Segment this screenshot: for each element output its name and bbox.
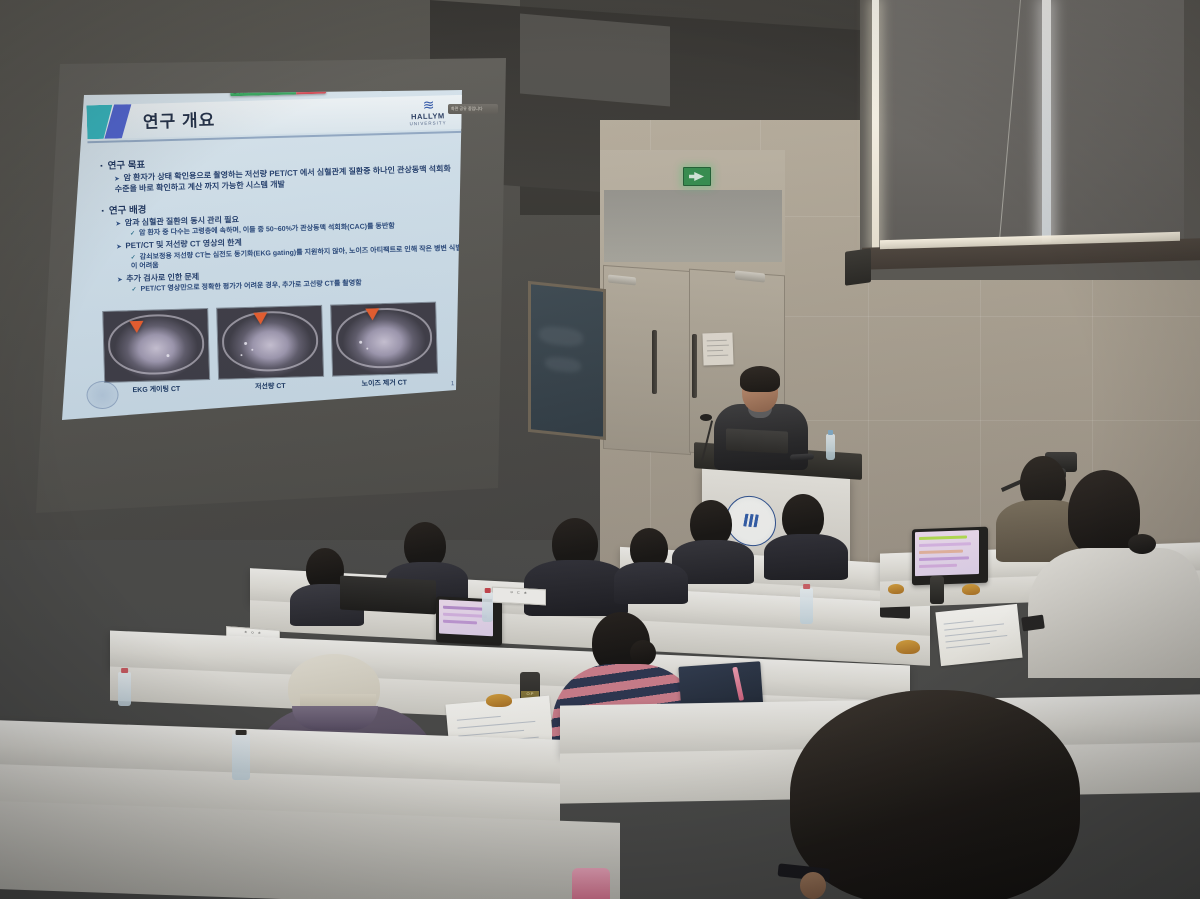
water-bottle[interactable] [572,868,610,899]
blind-light-gap [1042,0,1051,248]
slide-title: 연구 개요 [143,106,216,133]
name-placard: ㅇ ㄷ ㅎ [492,587,546,606]
audience-body [524,560,628,616]
water-bottle[interactable] [232,734,250,780]
screen-share-tooltip-text: 화면 공유 중입니다 [448,104,498,114]
audience-body [764,534,848,580]
ct-caption-lowdose: 저선량 CT [218,380,322,393]
chalkboard [528,281,606,440]
water-bottle[interactable] [482,592,493,622]
ct-image-item: EKG 게이팅 CT [102,308,208,396]
audience-tablet[interactable] [912,527,988,586]
hair-bow [1128,534,1156,554]
microphone-icon[interactable] [700,414,712,421]
audience-body [1028,548,1200,678]
foreground-person-ear [800,872,826,899]
ct-caption-ekg: EKG 게이팅 CT [104,383,208,396]
ct-image-row: EKG 게이팅 CT 저선량 CT [102,301,444,395]
slide-page-number: 1 [451,381,455,387]
ct-image-item: 저선량 CT [216,305,322,393]
door-handle-right[interactable] [692,334,697,398]
hallym-logo-mark: ≋ [406,97,448,112]
audience-laptop[interactable] [340,575,436,614]
hallym-logo: ≋ HALLYM UNIVERSITY [406,97,449,126]
door-transom-glass [604,190,782,262]
ct-scan-low-dose [216,305,324,380]
presentation-slide: 연구 개요 ≋ HALLYM UNIVERSITY 연구 목표 암 환자가 상태… [62,90,462,420]
ct-caption-denoised: 노이즈 제거 CT [332,377,436,390]
wall-notice [702,332,733,365]
ct-image-item: 노이즈 제거 CT [330,302,436,390]
presenter-hair [740,366,780,392]
door-handle-left[interactable] [652,330,657,394]
foreground-person-head [790,690,1080,899]
pen[interactable] [732,667,744,701]
water-bottle[interactable] [118,672,131,706]
ct-scan-denoised [330,302,438,377]
snack [486,694,512,707]
water-bottle[interactable] [800,588,813,624]
podium-water-bottle[interactable] [826,434,835,460]
snack [888,584,904,594]
lecture-hall-photo: 연구 개요 ≋ HALLYM UNIVERSITY 연구 목표 암 환자가 상태… [0,0,1200,899]
jacket-collar [292,706,378,730]
ceiling-speaker-icon [845,248,871,286]
presentation-pointer[interactable] [790,453,814,460]
snack [962,584,980,595]
exit-sign-icon [683,167,711,186]
slide-watermark-logo [86,381,119,410]
blind-light-gap-left [872,0,879,250]
name-placard-text: ㅇ ㄷ ㅎ [493,588,545,598]
snack [896,640,920,654]
audience-body [614,562,688,604]
ct-scan-ekg-gating [102,308,210,383]
presenter-laptop[interactable] [726,428,788,453]
door-left[interactable] [603,265,691,455]
slide-body: 연구 목표 암 환자가 상태 확인용으로 촬영하는 저선량 PET/CT 에서 … [100,141,462,297]
window-blind[interactable] [878,0,1184,248]
screen-share-tooltip: 화면 공유 중입니다 [448,104,498,114]
handout [935,604,1022,666]
hair-bun [630,640,656,666]
drink-bottle[interactable] [930,576,944,604]
ceiling-panel [520,13,670,106]
